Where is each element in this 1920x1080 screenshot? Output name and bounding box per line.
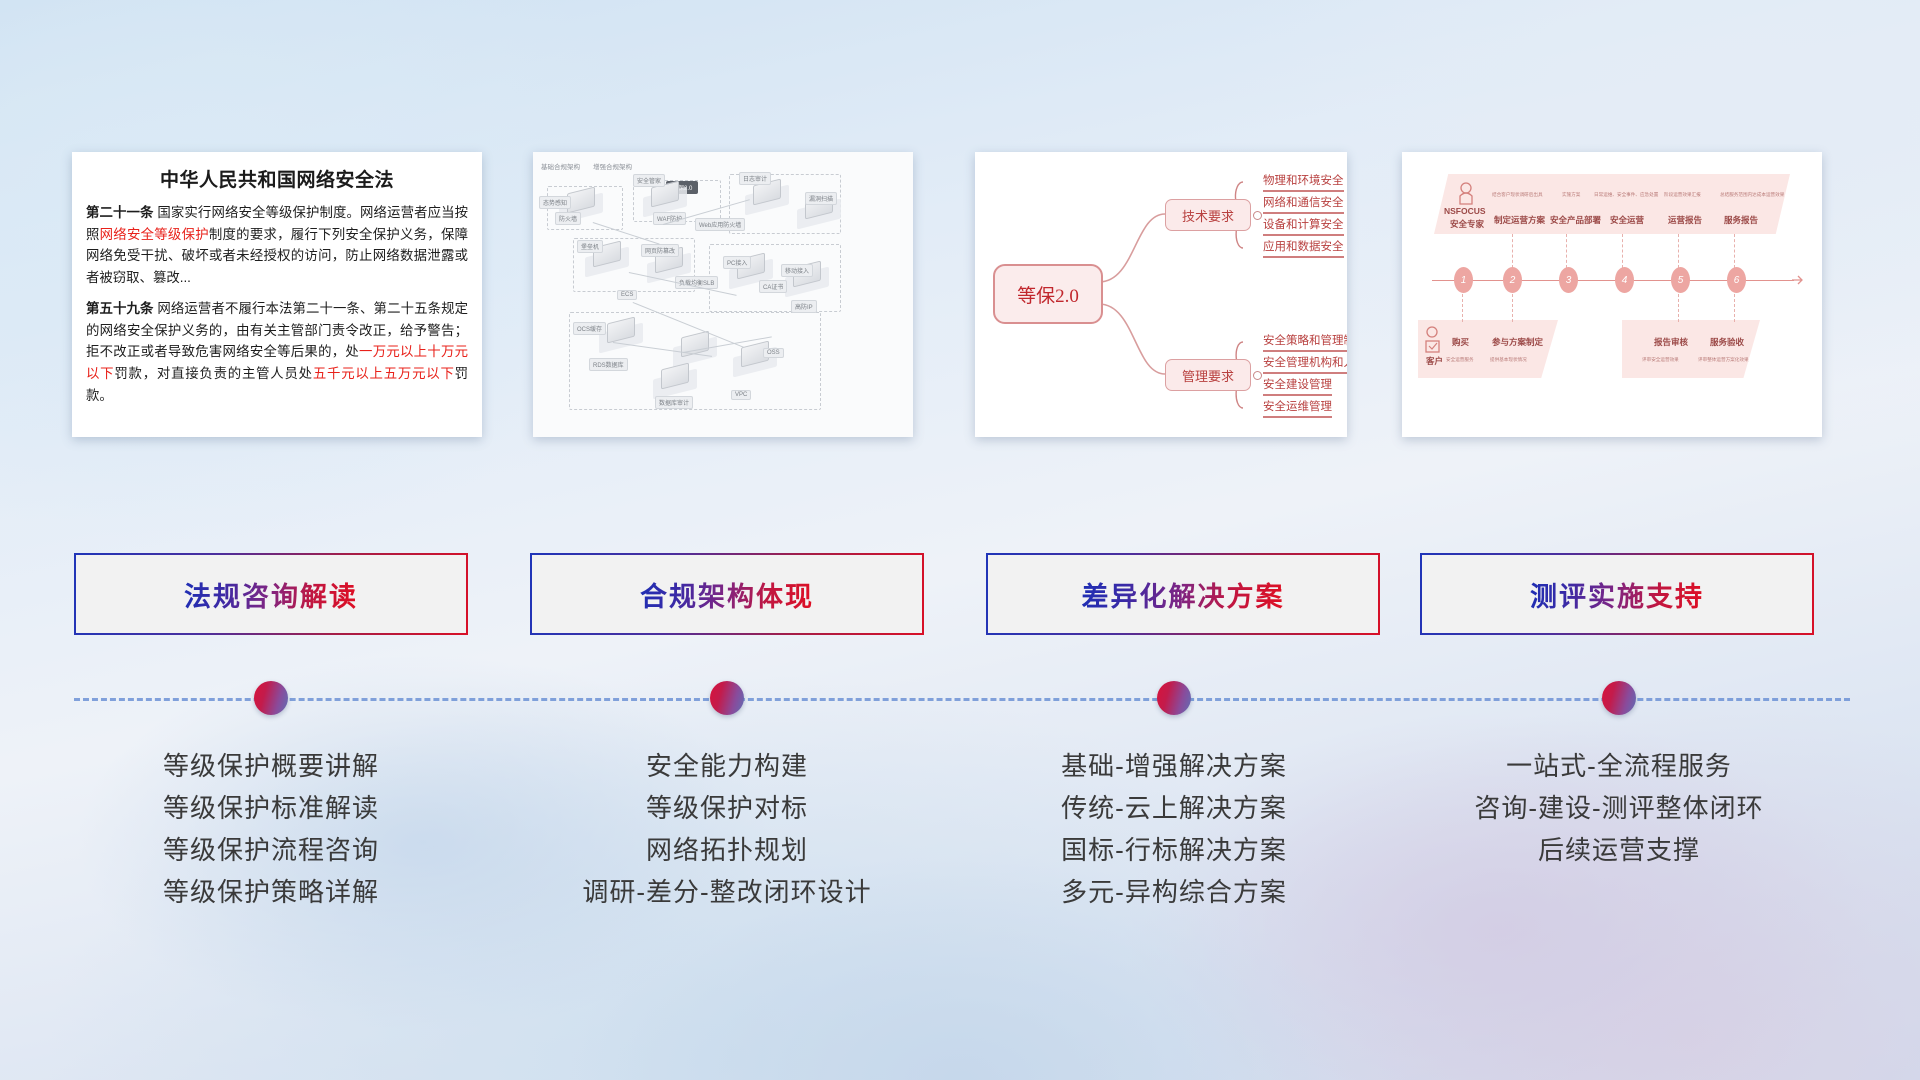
nf-bottom-actor: 客户 bbox=[1426, 355, 1443, 367]
card-compliance-architecture[interactable]: 基础合规架构 增强合规架构 等保2.0 bbox=[533, 152, 913, 437]
nf-dash-7 bbox=[1512, 294, 1514, 322]
card-djcp-mindmap[interactable]: 等保2.0 技术要求 管理要求 物理和环境安全 网络和通信安全 设备和计算安全 … bbox=[975, 152, 1347, 437]
arch-chip-17: VPC bbox=[731, 390, 751, 400]
timeline-dot-2[interactable] bbox=[710, 681, 744, 715]
nf-bottom-title-4: 服务验收 bbox=[1710, 336, 1744, 348]
arch-chip-0: 防火墙 bbox=[555, 212, 581, 225]
mindmap-leaf-t1: 物理和环境安全 bbox=[1263, 172, 1344, 192]
nf-bottom-sub-1: 安全运营服务 bbox=[1446, 357, 1474, 363]
nf-top-sub-1: 结合客户现状调研后出具 bbox=[1492, 192, 1543, 198]
nf-top-sub-5: 总结服务范围内达成本运营效果 bbox=[1720, 192, 1784, 198]
pill-label-2: 合规架构体现 bbox=[640, 575, 814, 614]
mindmap-leaf-m1: 安全策略和管理制度 bbox=[1263, 332, 1347, 352]
nf-top-actor-line2: 安全专家 bbox=[1450, 218, 1484, 230]
timeline-dot-1[interactable] bbox=[254, 681, 288, 715]
list-item: 网络拓扑规划 bbox=[517, 829, 937, 871]
arch-chip-16: RDS数据库 bbox=[589, 358, 628, 371]
arch-caption-left: 基础合规架构 bbox=[541, 161, 580, 171]
nf-dash-4 bbox=[1678, 234, 1680, 268]
arch-chip-6: 网页防篡改 bbox=[641, 244, 679, 257]
nf-bottom-sub-4: 评审整体运营方案化效果 bbox=[1698, 357, 1749, 363]
mindmap-leaf-t2: 网络和通信安全 bbox=[1263, 194, 1344, 214]
pill-differentiated-solution[interactable]: 差异化解决方案 bbox=[986, 553, 1380, 635]
nf-step-number-5: 5 bbox=[1671, 267, 1690, 293]
mindmap-leaf-t4: 应用和数据安全 bbox=[1263, 238, 1344, 258]
pill-assessment-support[interactable]: 测评实施支持 bbox=[1420, 553, 1814, 635]
arch-caption-right: 增强合规架构 bbox=[593, 161, 632, 171]
nf-dash-3 bbox=[1622, 234, 1624, 268]
mindmap-diagram: 等保2.0 技术要求 管理要求 物理和环境安全 网络和通信安全 设备和计算安全 … bbox=[975, 152, 1347, 437]
law-article-21: 第二十一条 国家实行网络安全等级保护制度。网络运营者应当按照网络安全等级保护制度… bbox=[86, 202, 468, 289]
list-item: 一站式-全流程服务 bbox=[1409, 745, 1829, 787]
list-item: 咨询-建设-测评整体闭环 bbox=[1409, 787, 1829, 829]
nf-bottom-sub-3: 评审安全运营效果 bbox=[1642, 357, 1679, 363]
pill-label-3: 差异化解决方案 bbox=[1082, 575, 1285, 614]
arch-chip-11: CA证书 bbox=[759, 280, 787, 293]
list-item: 传统-云上解决方案 bbox=[964, 787, 1384, 829]
arch-chip-3: 日志审计 bbox=[739, 172, 771, 185]
nf-dash-9 bbox=[1734, 294, 1736, 322]
arch-chip-12: 高防IP bbox=[791, 300, 817, 313]
nf-dash-5 bbox=[1734, 234, 1736, 268]
nf-top-title-5: 服务报告 bbox=[1724, 214, 1758, 226]
list-item: 等级保护策略详解 bbox=[61, 871, 481, 913]
nf-step-number-4: 4 bbox=[1615, 267, 1634, 293]
law-article-21-label: 第二十一条 bbox=[86, 205, 154, 220]
nf-step-number-3: 3 bbox=[1559, 267, 1578, 293]
mindmap-root-node: 等保2.0 bbox=[993, 264, 1103, 324]
nf-top-sub-3: 日常运维、安全事件、应急处置 bbox=[1594, 192, 1658, 198]
detail-column-1: 等级保护概要讲解 等级保护标准解读 等级保护流程咨询 等级保护策略详解 bbox=[61, 745, 481, 913]
nf-step-number-1: 1 bbox=[1454, 267, 1473, 293]
nf-bottom-title-1: 购买 bbox=[1452, 336, 1469, 348]
list-item: 安全能力构建 bbox=[517, 745, 937, 787]
list-item: 基础-增强解决方案 bbox=[964, 745, 1384, 787]
nf-top-title-3: 安全运营 bbox=[1610, 214, 1644, 226]
list-item: 国标-行标解决方案 bbox=[964, 829, 1384, 871]
arch-chip-1: 安全管家 bbox=[633, 174, 665, 187]
timeline-dot-4[interactable] bbox=[1602, 681, 1636, 715]
arch-chip-9: Web应用防火墙 bbox=[695, 218, 745, 231]
arch-chip-2: 态势感知 bbox=[539, 196, 571, 209]
mindmap-leaf-m3: 安全建设管理 bbox=[1263, 376, 1332, 396]
nf-top-title-4: 运营报告 bbox=[1668, 214, 1702, 226]
nf-top-actor-line1: NSFOCUS bbox=[1444, 206, 1486, 216]
law-title: 中华人民共和国网络安全法 bbox=[72, 165, 482, 192]
nf-step-number-2: 2 bbox=[1503, 267, 1522, 293]
list-item: 多元-异构综合方案 bbox=[964, 871, 1384, 913]
pill-label-4: 测评实施支持 bbox=[1530, 575, 1704, 614]
list-item: 等级保护对标 bbox=[517, 787, 937, 829]
arch-chip-7: PC接入 bbox=[723, 256, 751, 269]
nf-top-title-2: 安全产品部署 bbox=[1550, 214, 1601, 226]
card-law-content: 中华人民共和国网络安全法 第二十一条 国家实行网络安全等级保护制度。网络运营者应… bbox=[72, 152, 482, 437]
architecture-diagram: 基础合规架构 增强合规架构 等保2.0 bbox=[533, 152, 913, 437]
law-article-59-highlight-2: 五千元以上五万元以下 bbox=[313, 366, 455, 381]
nf-top-sub-2: 实施方案 bbox=[1562, 192, 1580, 198]
law-article-21-highlight: 网络安全等级保护 bbox=[100, 227, 209, 242]
list-item: 等级保护流程咨询 bbox=[61, 829, 481, 871]
pill-label-1: 法规咨询解读 bbox=[184, 575, 358, 614]
illustration-card-row: 中华人民共和国网络安全法 第二十一条 国家实行网络安全等级保护制度。网络运营者应… bbox=[0, 0, 1920, 460]
nsfocus-flow-diagram: NSFOCUS 安全专家 客户 结合客户现状调研后出具 制定运营方案 实施方案 … bbox=[1402, 152, 1822, 437]
nf-bottom-title-3: 报告审核 bbox=[1654, 336, 1688, 348]
arch-chip-5: 堡垒机 bbox=[577, 240, 603, 253]
nf-bottom-title-2: 参与方案制定 bbox=[1492, 336, 1543, 348]
nf-top-sub-4: 阶段运营效果汇报 bbox=[1664, 192, 1701, 198]
arch-chip-14: OSS bbox=[763, 348, 784, 358]
nf-dash-1 bbox=[1512, 234, 1514, 268]
detail-column-4: 一站式-全流程服务 咨询-建设-测评整体闭环 后续运营支撑 bbox=[1409, 745, 1829, 871]
arch-chip-8: 移动接入 bbox=[781, 264, 813, 277]
list-item: 等级保护标准解读 bbox=[61, 787, 481, 829]
detail-column-3: 基础-增强解决方案 传统-云上解决方案 国标-行标解决方案 多元-异构综合方案 bbox=[964, 745, 1384, 913]
nf-dash-6 bbox=[1462, 294, 1464, 322]
nf-step-number-6: 6 bbox=[1727, 267, 1746, 293]
nf-dash-2 bbox=[1566, 234, 1568, 268]
law-article-59-text-b: 罚款，对直接负责的主管人员处 bbox=[114, 366, 312, 381]
timeline-dashed-line bbox=[74, 698, 1850, 701]
arch-chip-4: 漏洞扫描 bbox=[805, 192, 837, 205]
detail-column-2: 安全能力构建 等级保护对标 网络拓扑规划 调研-差分-整改闭环设计 bbox=[517, 745, 937, 913]
list-item: 后续运营支撑 bbox=[1409, 829, 1829, 871]
list-item: 调研-差分-整改闭环设计 bbox=[517, 871, 937, 913]
nf-dash-8 bbox=[1678, 294, 1680, 322]
timeline-dot-3[interactable] bbox=[1157, 681, 1191, 715]
card-nsfocus-service-flow[interactable]: NSFOCUS 安全专家 客户 结合客户现状调研后出具 制定运营方案 实施方案 … bbox=[1402, 152, 1822, 437]
card-cybersecurity-law[interactable]: 中华人民共和国网络安全法 第二十一条 国家实行网络安全等级保护制度。网络运营者应… bbox=[72, 152, 482, 437]
list-item: 等级保护概要讲解 bbox=[61, 745, 481, 787]
law-article-59: 第五十九条 网络运营者不履行本法第二十一条、第二十五条规定的网络安全保护义务的，… bbox=[86, 298, 468, 407]
arch-chip-15: OCS缓存 bbox=[573, 322, 606, 335]
mindmap-branch-technical: 技术要求 bbox=[1165, 199, 1251, 231]
arch-chip-13: ECS bbox=[617, 290, 637, 300]
mindmap-leaf-m2: 安全管理机构和人员 bbox=[1263, 354, 1347, 374]
nf-top-title-1: 制定运营方案 bbox=[1494, 214, 1545, 226]
mindmap-collapse-icon-management[interactable] bbox=[1253, 371, 1262, 380]
law-article-59-label: 第五十九条 bbox=[86, 301, 154, 316]
pill-compliance-architecture[interactable]: 合规架构体现 bbox=[530, 553, 924, 635]
mindmap-collapse-icon-technical[interactable] bbox=[1253, 211, 1262, 220]
arch-chip-18: 数据库审计 bbox=[655, 396, 693, 409]
mindmap-leaf-m4: 安全运维管理 bbox=[1263, 398, 1332, 418]
pill-regulation-consulting[interactable]: 法规咨询解读 bbox=[74, 553, 468, 635]
nf-bottom-sub-2: 提供基本现状情况 bbox=[1490, 357, 1527, 363]
mindmap-branch-management: 管理要求 bbox=[1165, 359, 1251, 391]
mindmap-leaf-t3: 设备和计算安全 bbox=[1263, 216, 1344, 236]
